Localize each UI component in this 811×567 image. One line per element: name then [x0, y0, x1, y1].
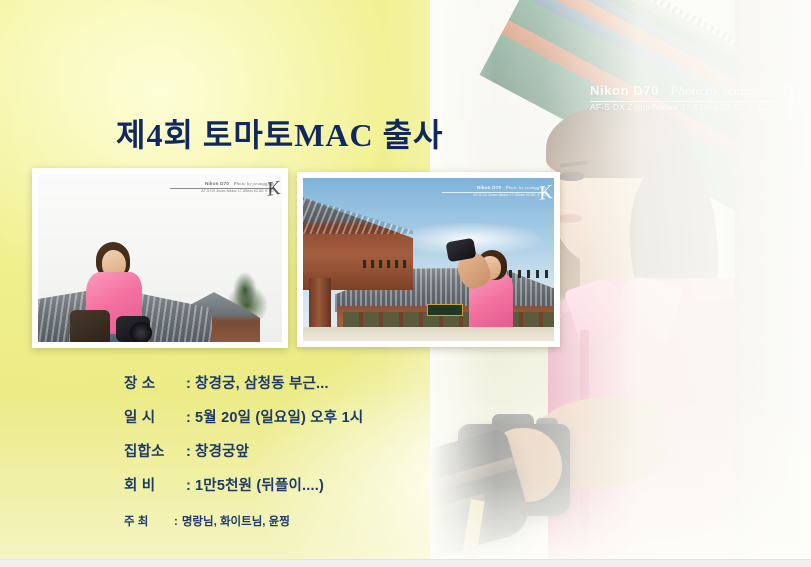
framed-photo-1-image: Nikon D70 Photo by yeungging AF-S DX Zoo… [38, 174, 282, 342]
detail-label: 주 최 [124, 513, 174, 529]
photo2-ground [303, 327, 554, 341]
detail-row-host: 주 최 : 명랑님, 화이트님, 윤찡 [124, 513, 290, 529]
detail-separator: : [186, 410, 191, 426]
detail-row-fee: 회 비 : 1만5천원 (뒤플이....) [124, 474, 454, 495]
photo2-name-plaque [427, 304, 463, 316]
detail-label: 회 비 [124, 474, 186, 495]
detail-label: 장 소 [124, 372, 186, 393]
photo1-camera-lens [130, 322, 152, 342]
detail-label: 집합소 [124, 440, 186, 461]
detail-row-datetime: 일 시 : 5월 20일 (일요일) 오후 1시 [124, 406, 454, 427]
detail-separator: : [186, 444, 191, 460]
detail-value: 창경궁, 삼청동 부근... [195, 372, 329, 393]
detail-row-meeting-point: 집합소 : 창경궁앞 [124, 440, 454, 461]
detail-separator: : [186, 376, 191, 392]
watermark-lens-label: AF-S DX Zoom-Nikkor 17-55mm f/2.8G IF ED [170, 189, 274, 193]
framed-photo-2-image: Nikon D70 Photo by yeungging AF-S DX Zoo… [303, 178, 554, 341]
detail-row-location: 장 소 : 창경궁, 삼청동 부근... [124, 372, 454, 393]
watermark-divider [170, 188, 274, 189]
framed-photo-2[interactable]: Nikon D70 Photo by yeungging AF-S DX Zoo… [297, 172, 560, 347]
page-title: 제4회 토마토MAC 출사 [116, 110, 444, 156]
photo2-watermark: Nikon D70 Photo by yeungging AF-S DX Zoo… [442, 185, 546, 197]
watermark-camera-label: Nikon D70 [205, 181, 229, 186]
photo1-camera-bag [70, 310, 110, 342]
detail-label: 일 시 [124, 406, 186, 427]
detail-separator: : [174, 516, 178, 528]
photo1-watermark: Nikon D70 Photo by yeungging AF-S DX Zoo… [170, 181, 274, 193]
framed-photo-1[interactable]: Nikon D70 Photo by yeungging AF-S DX Zoo… [32, 168, 288, 348]
poster-canvas: Nikon D70 Photo by yeungging AF-S DX Zoo… [0, 0, 811, 567]
bottom-edge-strip [0, 559, 811, 567]
detail-value: 명랑님, 화이트님, 윤찡 [182, 513, 290, 529]
detail-separator: : [186, 478, 191, 494]
detail-value: 5월 20일 (일요일) 오후 1시 [195, 406, 363, 427]
watermark-camera-label: Nikon D70 [477, 185, 501, 190]
detail-value: 1만5천원 (뒤플이....) [195, 474, 324, 495]
watermark-lens-label: AF-S DX Zoom-Nikkor 17-55mm f/2.8G IF ED [442, 193, 546, 197]
event-details-list: 장 소 : 창경궁, 삼청동 부근... 일 시 : 5월 20일 (일요일) … [124, 372, 454, 508]
watermark-divider [442, 192, 546, 193]
photo2-roof-figures [363, 260, 411, 268]
detail-value: 창경궁앞 [195, 440, 249, 461]
